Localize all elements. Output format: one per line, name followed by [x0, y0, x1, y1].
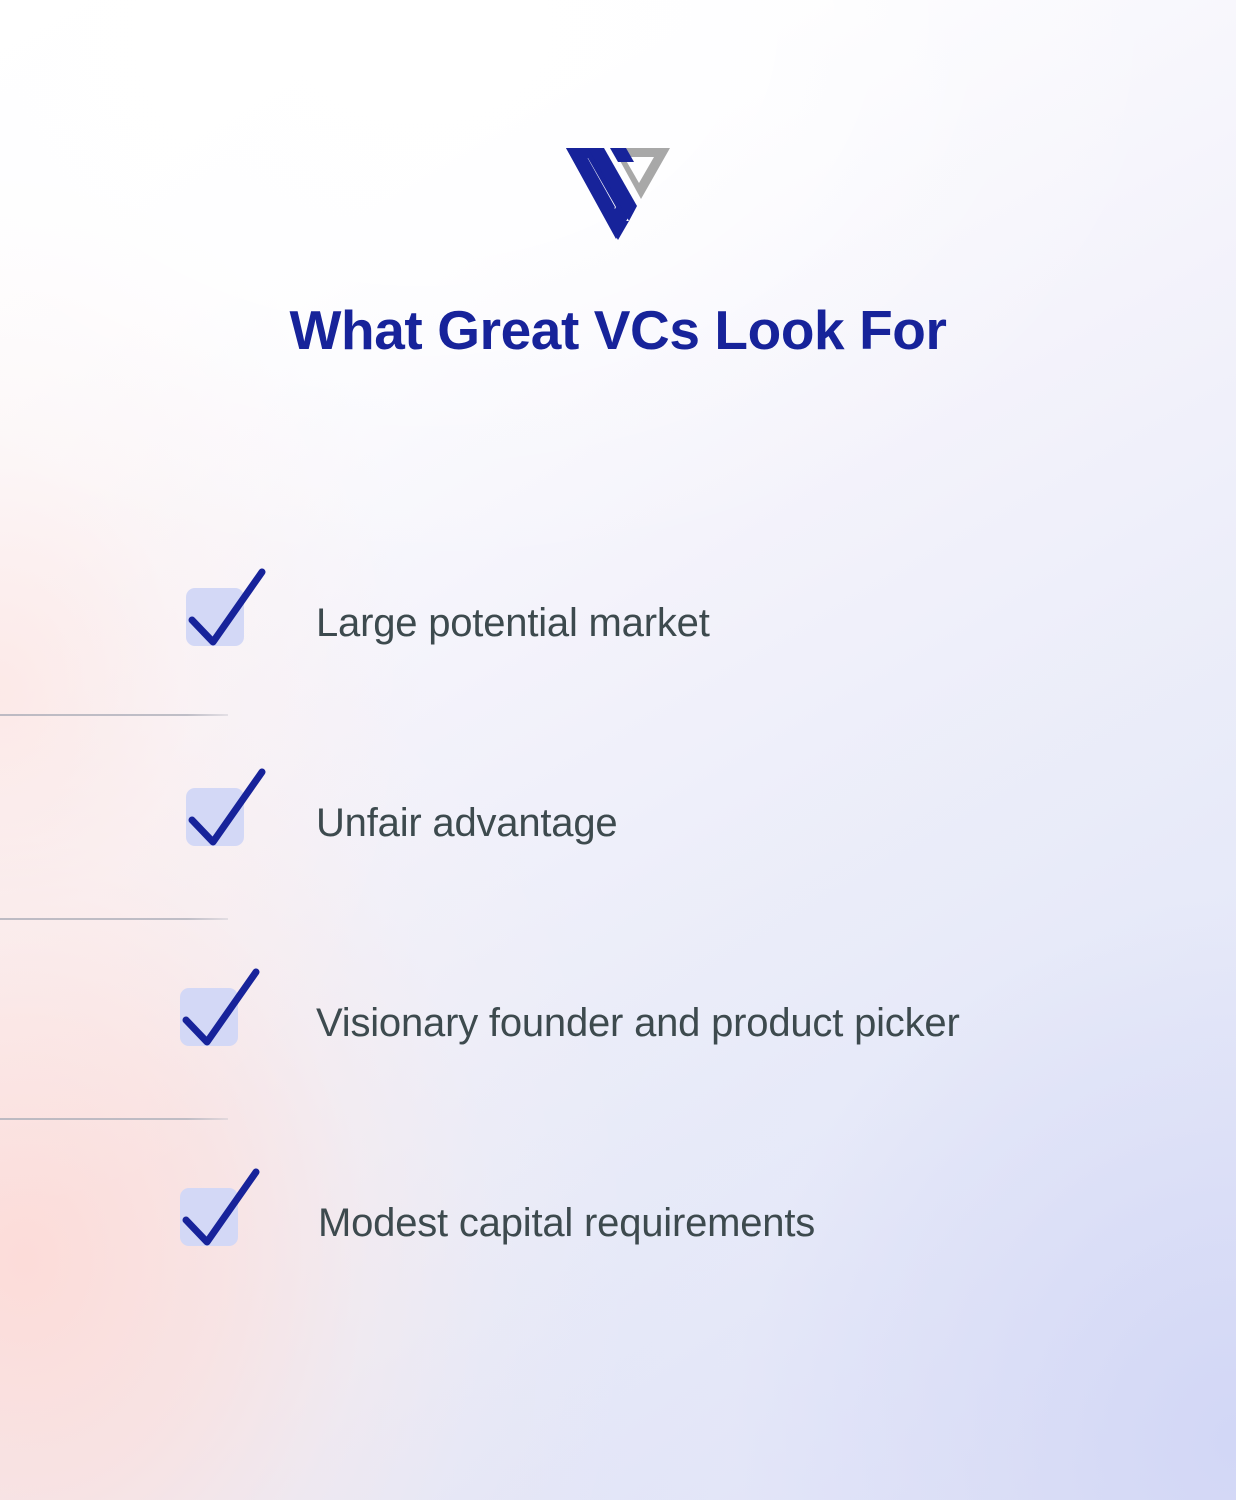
logo-blue-point [607, 221, 629, 240]
checkbox-container[interactable] [186, 566, 278, 658]
checkmark-icon [182, 766, 278, 858]
checkbox-container[interactable] [180, 966, 272, 1058]
checkbox-container[interactable] [180, 1166, 272, 1258]
checklist-item-label: Unfair advantage [316, 766, 617, 852]
checkmark-icon [176, 1166, 272, 1258]
checklist-item-label: Visionary founder and product picker [316, 966, 960, 1052]
page-title: What Great VCs Look For [0, 297, 1236, 363]
vc-chevron-logo-icon [558, 143, 678, 245]
checklist-item[interactable]: Modest capital requirements [0, 1166, 1236, 1366]
checkmark-icon [182, 566, 278, 658]
checklist-item[interactable]: Unfair advantage [0, 766, 1236, 966]
checkbox-container[interactable] [186, 766, 278, 858]
checkmark-icon [176, 966, 272, 1058]
checklist: Large potential market Unfair advantage … [0, 566, 1236, 1366]
checklist-item-label: Modest capital requirements [318, 1166, 815, 1252]
checklist-item-label: Large potential market [316, 566, 710, 652]
slide-canvas: What Great VCs Look For Large potential … [0, 0, 1236, 1500]
logo-container [0, 143, 1236, 245]
checklist-item[interactable]: Visionary founder and product picker [0, 966, 1236, 1166]
checklist-item[interactable]: Large potential market [0, 566, 1236, 766]
